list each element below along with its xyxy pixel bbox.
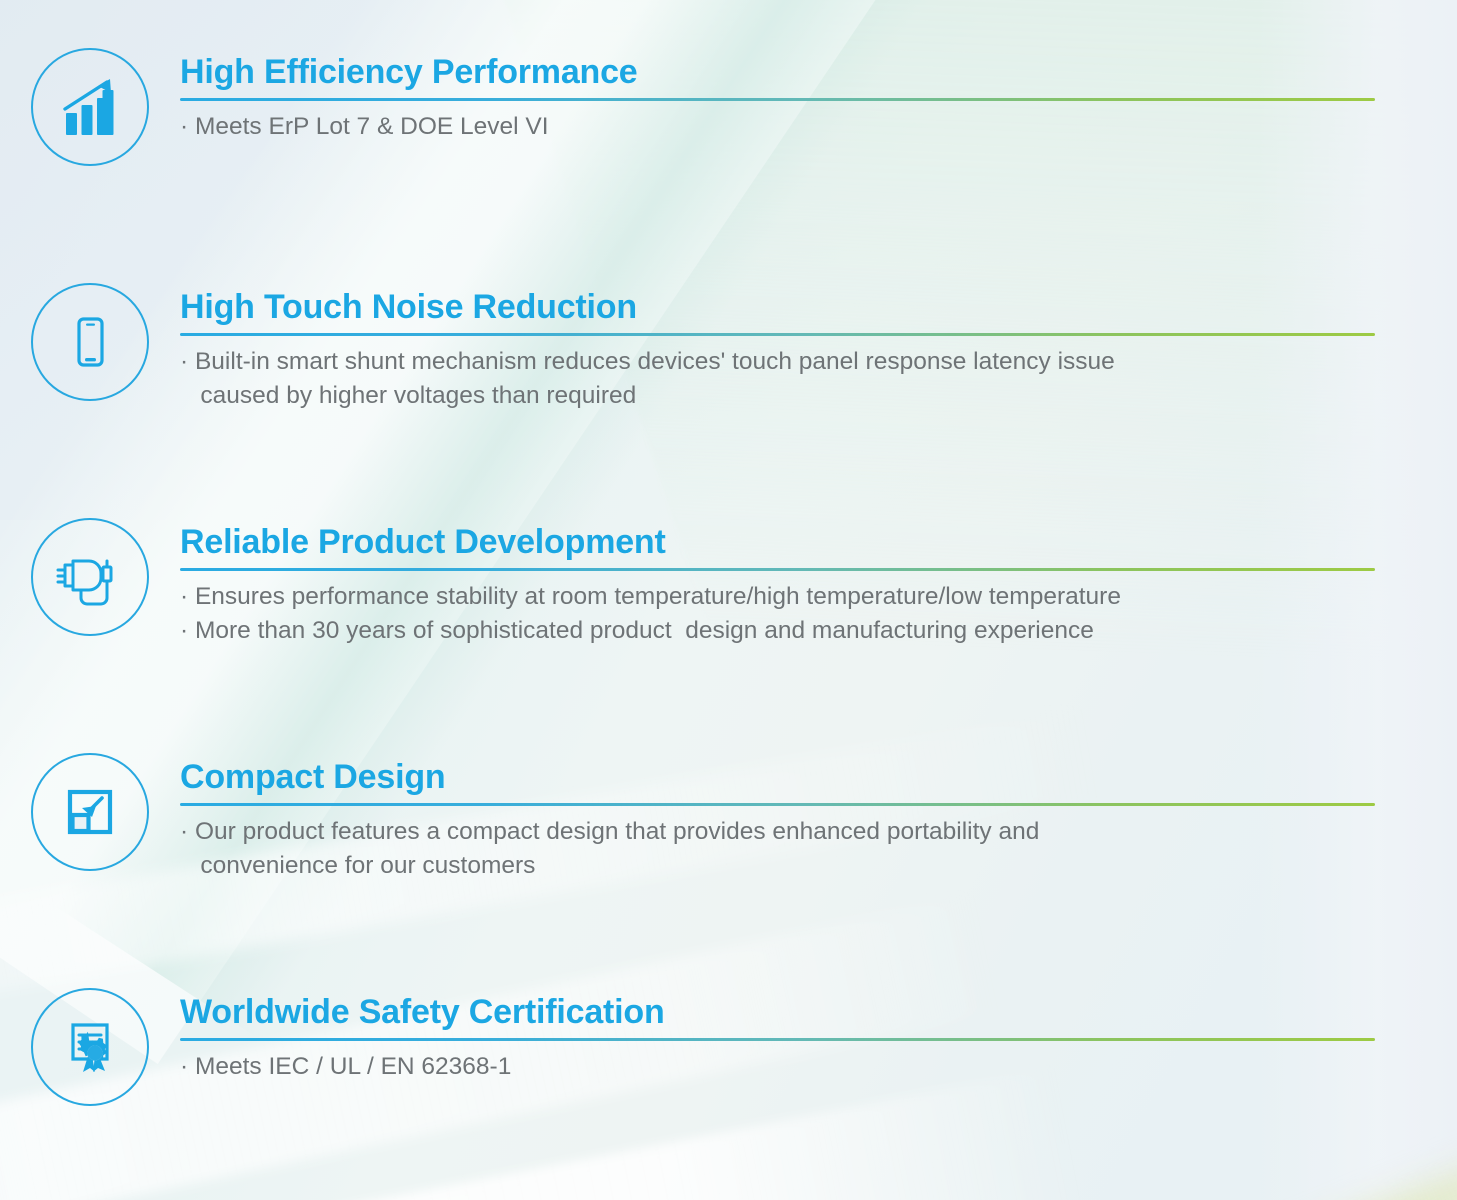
certificate-award-icon	[31, 988, 149, 1106]
feature-description: · Meets IEC / UL / EN 62368-1	[180, 1050, 1375, 1084]
feature-icon-container	[0, 283, 180, 401]
feature-icon-container	[0, 988, 180, 1106]
feature-highlights-page: High Efficiency Performance · Meets ErP …	[0, 0, 1457, 1200]
feature-divider	[180, 333, 1375, 336]
feature-text-block: High Efficiency Performance · Meets ErP …	[180, 48, 1457, 144]
feature-bullet-line: · Built-in smart shunt mechanism reduces…	[180, 345, 1375, 379]
feature-bullet-line-cont: caused by higher voltages than required	[180, 379, 1375, 413]
smartphone-icon	[31, 283, 149, 401]
feature-text-block: Reliable Product Development · Ensures p…	[180, 518, 1457, 647]
feature-item-high-touch-noise-reduction: High Touch Noise Reduction · Built-in sm…	[0, 283, 1457, 412]
feature-bullet-line-cont: convenience for our customers	[180, 849, 1375, 883]
feature-icon-container	[0, 48, 180, 166]
feature-description: · Our product features a compact design …	[180, 815, 1375, 883]
feature-list: High Efficiency Performance · Meets ErP …	[0, 0, 1457, 1200]
feature-title: Compact Design	[180, 759, 1375, 796]
feature-bullet-line-2: · More than 30 years of sophisticated pr…	[180, 614, 1375, 648]
feature-item-worldwide-safety-certification: Worldwide Safety Certification · Meets I…	[0, 988, 1457, 1106]
feature-text-block: Worldwide Safety Certification · Meets I…	[180, 988, 1457, 1084]
feature-divider	[180, 803, 1375, 806]
feature-item-high-efficiency-performance: High Efficiency Performance · Meets ErP …	[0, 48, 1457, 166]
feature-icon-container	[0, 518, 180, 636]
power-adapter-icon	[31, 518, 149, 636]
feature-divider	[180, 1038, 1375, 1041]
feature-title: Worldwide Safety Certification	[180, 994, 1375, 1031]
feature-text-block: Compact Design · Our product features a …	[180, 753, 1457, 882]
feature-text-block: High Touch Noise Reduction · Built-in sm…	[180, 283, 1457, 412]
feature-description: · Built-in smart shunt mechanism reduces…	[180, 345, 1375, 413]
feature-bullet-line: · Our product features a compact design …	[180, 815, 1375, 849]
feature-bullet-line: · Meets IEC / UL / EN 62368-1	[180, 1050, 1375, 1084]
feature-icon-container	[0, 753, 180, 871]
feature-description: · Ensures performance stability at room …	[180, 580, 1375, 648]
feature-bullet-line: · Ensures performance stability at room …	[180, 580, 1375, 614]
compact-resize-icon	[31, 753, 149, 871]
feature-description: · Meets ErP Lot 7 & DOE Level VI	[180, 110, 1375, 144]
feature-item-reliable-product-development: Reliable Product Development · Ensures p…	[0, 518, 1457, 647]
feature-divider	[180, 568, 1375, 571]
bar-chart-growth-icon	[31, 48, 149, 166]
feature-title: High Efficiency Performance	[180, 54, 1375, 91]
feature-bullet-line: · Meets ErP Lot 7 & DOE Level VI	[180, 110, 1375, 144]
feature-title: Reliable Product Development	[180, 524, 1375, 561]
feature-divider	[180, 98, 1375, 101]
feature-item-compact-design: Compact Design · Our product features a …	[0, 753, 1457, 882]
feature-title: High Touch Noise Reduction	[180, 289, 1375, 326]
